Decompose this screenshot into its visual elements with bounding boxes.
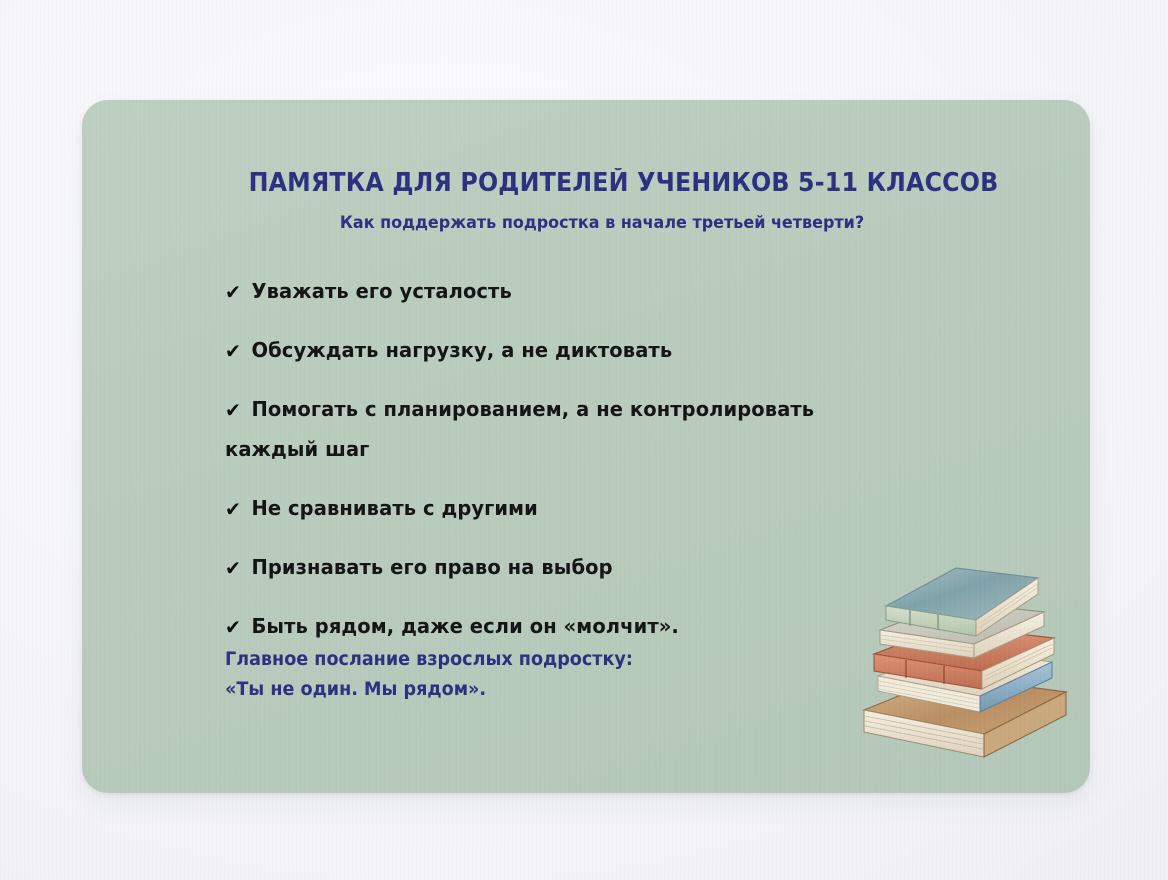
closing-message-line-2: «Ты не один. Мы рядом». [225,675,633,705]
memo-card: ПАМЯТКА ДЛЯ РОДИТЕЛЕЙ УЧЕНИКОВ 5-11 КЛАС… [82,100,1090,793]
list-item: ✔Помогать с планированием, а не контроли… [225,390,890,470]
list-item: ✔Не сравнивать с другими [225,489,890,529]
page-subtitle: Как поддержать подростка в начале третье… [245,213,959,233]
list-item-label: Помогать с планированием, а не контролир… [225,397,814,461]
list-item: ✔Обсуждать нагрузку, а не диктовать [225,331,890,371]
list-item: ✔Признавать его право на выбор [225,548,890,588]
check-icon: ✔ [225,273,241,312]
check-icon: ✔ [225,391,241,430]
list-item-label: Обсуждать нагрузку, а не диктовать [251,338,672,362]
closing-message-line-1: Главное послание взрослых подростку: [225,645,633,675]
check-icon: ✔ [225,490,241,529]
list-item-label: Быть рядом, даже если он «молчит». [251,614,678,638]
check-icon: ✔ [225,608,241,647]
list-item-label: Не сравнивать с другими [251,496,537,520]
closing-message: Главное послание взрослых подростку: «Ты… [225,645,633,705]
page-title: ПАМЯТКА ДЛЯ РОДИТЕЛЕЙ УЧЕНИКОВ 5-11 КЛАС… [249,168,956,198]
list-item: ✔Уважать его усталость [225,272,890,312]
check-icon: ✔ [225,549,241,588]
poster-background: ПАМЯТКА ДЛЯ РОДИТЕЛЕЙ УЧЕНИКОВ 5-11 КЛАС… [0,0,1168,880]
checklist: ✔Уважать его усталость ✔Обсуждать нагруз… [225,272,925,666]
list-item-label: Признавать его право на выбор [251,555,612,579]
books-icon [852,558,1082,773]
stack-of-books-illustration [852,558,1082,773]
check-icon: ✔ [225,332,241,371]
list-item-label: Уважать его усталость [251,279,511,303]
list-item: ✔Быть рядом, даже если он «молчит». [225,607,890,647]
